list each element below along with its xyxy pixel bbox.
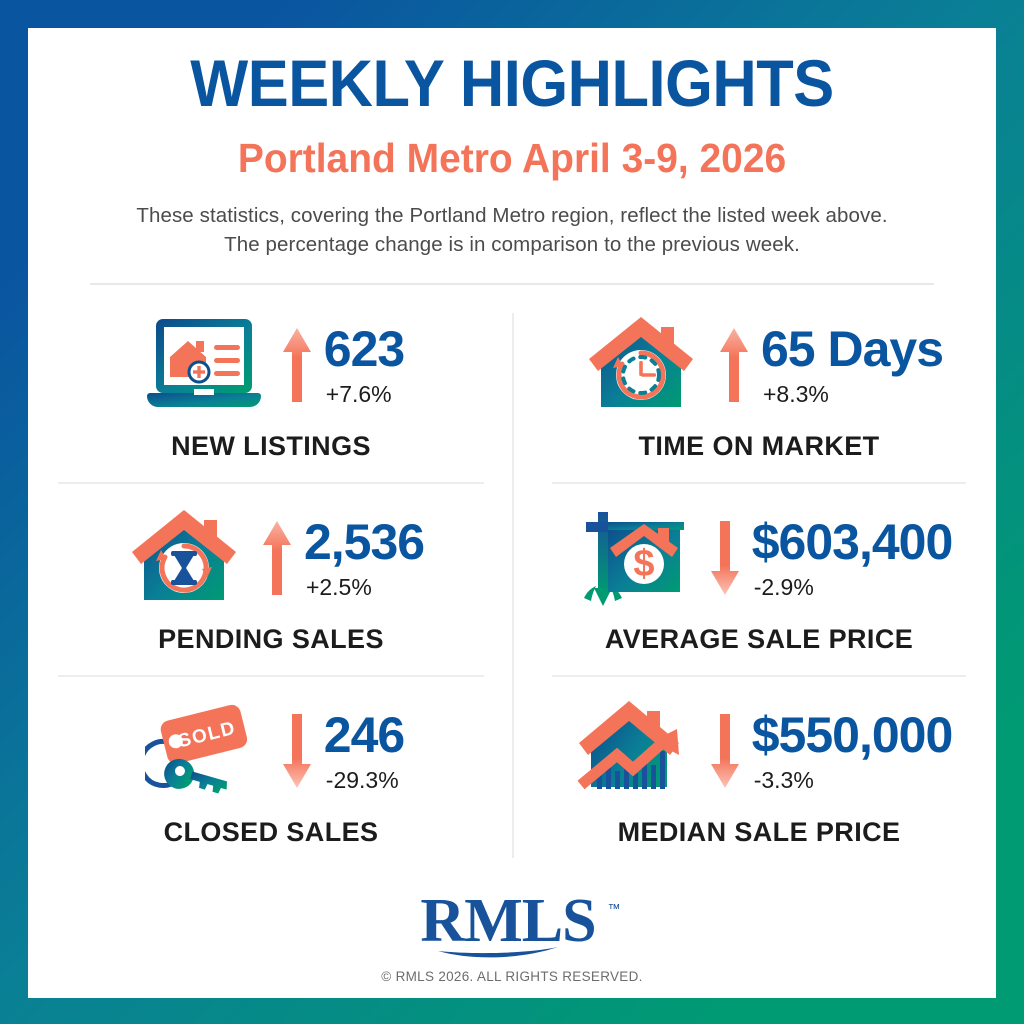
stat-change: -3.3% (754, 769, 814, 792)
stat-row: 623 +7.6% (58, 311, 484, 419)
page-subtitle: Portland Metro April 3-9, 2026 (81, 138, 944, 179)
stat-row: 2,536 +2.5% (58, 504, 484, 612)
stat-label: CLOSED SALES (58, 819, 484, 846)
stat-value-group: $603,400 -2.9% (752, 517, 953, 599)
stat-card-new-listings: 623 +7.6% NEW LISTINGS (58, 291, 484, 484)
arrow-down-icon (702, 516, 748, 600)
house-bar-chart-trend-icon (566, 699, 698, 804)
stat-change: +2.5% (306, 576, 372, 599)
stat-value-group: $550,000 -3.3% (752, 710, 953, 792)
yard-sign-dollar-icon: $ (566, 506, 698, 611)
stat-value-group: 246 -29.3% (324, 710, 404, 792)
stat-label: MEDIAN SALE PRICE (552, 819, 966, 846)
arrow-up-icon (711, 323, 757, 407)
copyright-text: © RMLS 2026. ALL RIGHTS RESERVED. (28, 969, 996, 984)
stat-row: SOLD (58, 697, 484, 805)
arrow-up-icon (254, 516, 300, 600)
stat-row: $550,000 -3.3% (552, 697, 966, 805)
stat-row: $ $603,400 (552, 504, 966, 612)
rmls-logo: RMLS ™ (382, 891, 642, 963)
stat-value-group: 65 Days +8.3% (761, 324, 943, 406)
infographic-poster: WEEKLY HIGHLIGHTS Portland Metro April 3… (0, 0, 1024, 1024)
stat-card-time-on-market: 65 Days +8.3% TIME ON MARKET (552, 291, 966, 484)
stat-value-group: 623 +7.6% (324, 324, 404, 406)
arrow-up-icon (274, 323, 320, 407)
page-description: These statistics, covering the Portland … (117, 201, 907, 259)
stat-card-pending-sales: 2,536 +2.5% PENDING SALES (58, 484, 484, 677)
stat-change: -29.3% (326, 769, 399, 792)
stat-value: 2,536 (304, 517, 424, 567)
stat-label: NEW LISTINGS (58, 433, 484, 460)
sold-tag-keys-icon: SOLD (138, 699, 270, 804)
stat-value: $550,000 (752, 710, 953, 760)
stat-change: -2.9% (754, 576, 814, 599)
trademark-mark: ™ (608, 901, 621, 916)
stat-value: 65 Days (761, 324, 943, 374)
house-clock-icon (575, 313, 707, 418)
column-divider (512, 313, 514, 858)
stat-change: +7.6% (326, 383, 392, 406)
stat-row: 65 Days +8.3% (552, 311, 966, 419)
laptop-new-listing-icon (138, 313, 270, 418)
stat-value-group: 2,536 +2.5% (304, 517, 424, 599)
poster-inner-card: WEEKLY HIGHLIGHTS Portland Metro April 3… (28, 28, 996, 998)
stat-label: TIME ON MARKET (552, 433, 966, 460)
header-divider (90, 283, 934, 285)
stat-change: +8.3% (763, 383, 829, 406)
stat-value: 623 (324, 324, 404, 374)
stat-card-average-sale-price: $ $603,400 (552, 484, 966, 677)
rmls-logo-text: RMLS (420, 891, 595, 955)
stat-card-median-sale-price: $550,000 -3.3% MEDIAN SALE PRICE (552, 677, 966, 870)
stats-column-right: 65 Days +8.3% TIME ON MARKET (512, 291, 966, 870)
arrow-down-icon (702, 709, 748, 793)
page-title: WEEKLY HIGHLIGHTS (90, 28, 934, 116)
stat-label: PENDING SALES (58, 626, 484, 653)
footer: RMLS ™ © RMLS 2026. ALL RIGHTS RESERVED. (28, 891, 996, 984)
stat-label: AVERAGE SALE PRICE (552, 626, 966, 653)
arrow-down-icon (274, 709, 320, 793)
dollar-sign-text: $ (633, 543, 654, 585)
stat-card-closed-sales: SOLD (58, 677, 484, 870)
stats-grid: 623 +7.6% NEW LISTINGS (58, 291, 966, 870)
stats-column-left: 623 +7.6% NEW LISTINGS (58, 291, 512, 870)
stat-value: 246 (324, 710, 404, 760)
stat-value: $603,400 (752, 517, 953, 567)
house-hourglass-icon (118, 506, 250, 611)
